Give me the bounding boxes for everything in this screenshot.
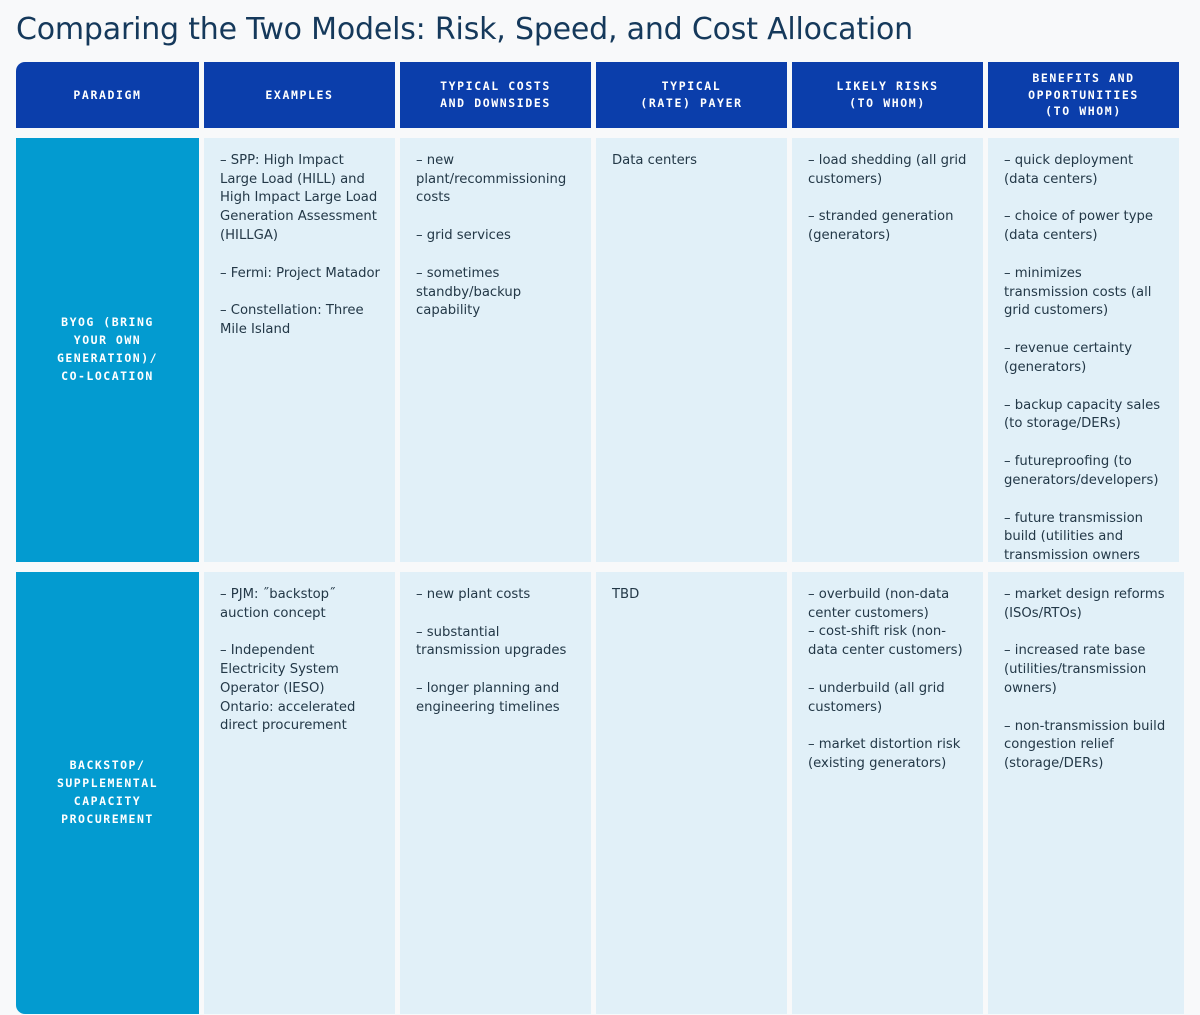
list-item: – SPP: High Impact Large Load (HILL) and… bbox=[220, 152, 381, 246]
list-item: – load shedding (all grid customers) bbox=[808, 152, 969, 189]
table-row: BYOG (BRING YOUR OWN GENERATION)/ CO-LOC… bbox=[16, 138, 204, 562]
column-header-benefits-and-opportunities: BENEFITS AND OPPORTUNITIES (TO WHOM) bbox=[988, 62, 1184, 128]
table-row: – quick deployment (data centers) – choi… bbox=[988, 138, 1184, 562]
list-item: – longer planning and engineering timeli… bbox=[416, 680, 577, 717]
list-item: – cost-shift risk (non-data center custo… bbox=[808, 623, 969, 660]
list-item: – quick deployment (data centers) bbox=[1004, 152, 1165, 189]
table-row: – load shedding (all grid customers) – s… bbox=[792, 138, 988, 562]
list-item: – PJM: ˝backstop˝ auction concept bbox=[220, 586, 381, 623]
list-item: – Fermi: Project Matador bbox=[220, 265, 381, 284]
table-row: – new plant costs – substantial transmis… bbox=[400, 572, 596, 1014]
column-header-paradigm: PARADIGM bbox=[16, 62, 204, 128]
body-row-gap bbox=[16, 562, 1184, 572]
list-item: – choice of power type (data centers) bbox=[1004, 208, 1165, 245]
column-header-examples: EXAMPLES bbox=[204, 62, 400, 128]
list-item: – overbuild (non-data center customers) bbox=[808, 586, 969, 623]
list-item: – grid services bbox=[416, 227, 577, 246]
costs-list: – new plant costs – substantial transmis… bbox=[416, 586, 577, 718]
table-row: – SPP: High Impact Large Load (HILL) and… bbox=[204, 138, 400, 562]
examples-list: – PJM: ˝backstop˝ auction concept – Inde… bbox=[220, 586, 381, 736]
list-item: – non-transmission build congestion reli… bbox=[1004, 718, 1170, 774]
infographic-table-page: Comparing the Two Models: Risk, Speed, a… bbox=[0, 0, 1200, 1015]
list-item: – sometimes standby/backup capability bbox=[416, 265, 577, 321]
list-item: – substantial transmission upgrades bbox=[416, 624, 577, 661]
page-title: Comparing the Two Models: Risk, Speed, a… bbox=[16, 12, 1176, 47]
list-item: – future transmission build (utilities a… bbox=[1004, 510, 1165, 566]
list-item: – market design reforms (ISOs/RTOs) bbox=[1004, 586, 1170, 623]
column-header-typical-rate-payer: TYPICAL (RATE) PAYER bbox=[596, 62, 792, 128]
list-item: – futureproofing (to generators/develope… bbox=[1004, 453, 1165, 490]
rate-payer-value: Data centers bbox=[612, 152, 773, 171]
list-item: – backup capacity sales (to storage/DERs… bbox=[1004, 397, 1165, 434]
benefits-list: – market design reforms (ISOs/RTOs) – in… bbox=[1004, 586, 1170, 774]
list-item: – underbuild (all grid customers) bbox=[808, 680, 969, 717]
examples-list: – SPP: High Impact Large Load (HILL) and… bbox=[220, 152, 381, 340]
benefits-list: – quick deployment (data centers) – choi… bbox=[1004, 152, 1165, 566]
comparison-table: PARADIGM EXAMPLES TYPICAL COSTS AND DOWN… bbox=[16, 62, 1184, 1014]
list-item: – stranded generation (generators) bbox=[808, 208, 969, 245]
risks-list: – load shedding (all grid customers) – s… bbox=[808, 152, 969, 246]
table-row: – market design reforms (ISOs/RTOs) – in… bbox=[988, 572, 1184, 1014]
header-row-gap bbox=[16, 128, 1184, 138]
list-item: – increased rate base (utilities/transmi… bbox=[1004, 642, 1170, 698]
risks-list: – overbuild (non-data center customers) … bbox=[808, 586, 969, 774]
table-row: TBD bbox=[596, 572, 792, 1014]
list-item: – new plant/recommissioning costs bbox=[416, 152, 577, 208]
list-item: – minimizes transmission costs (all grid… bbox=[1004, 265, 1165, 321]
column-header-likely-risks: LIKELY RISKS (TO WHOM) bbox=[792, 62, 988, 128]
column-header-typical-costs-and-downsides: TYPICAL COSTS AND DOWNSIDES bbox=[400, 62, 596, 128]
list-item: – Independent Electricity System Operato… bbox=[220, 642, 381, 736]
table-row: Data centers bbox=[596, 138, 792, 562]
table-row: – PJM: ˝backstop˝ auction concept – Inde… bbox=[204, 572, 400, 1014]
costs-list: – new plant/recommissioning costs – grid… bbox=[416, 152, 577, 321]
table-row: – new plant/recommissioning costs – grid… bbox=[400, 138, 596, 562]
list-item: – market distortion risk (existing gener… bbox=[808, 736, 969, 773]
rate-payer-value: TBD bbox=[612, 586, 773, 605]
list-item: – revenue certainty (generators) bbox=[1004, 340, 1165, 377]
table-row: – overbuild (non-data center customers) … bbox=[792, 572, 988, 1014]
list-item: – Constellation: Three Mile Island bbox=[220, 302, 381, 339]
list-item: – new plant costs bbox=[416, 586, 577, 605]
table-row: BACKSTOP/ SUPPLEMENTAL CAPACITY PROCUREM… bbox=[16, 572, 204, 1014]
